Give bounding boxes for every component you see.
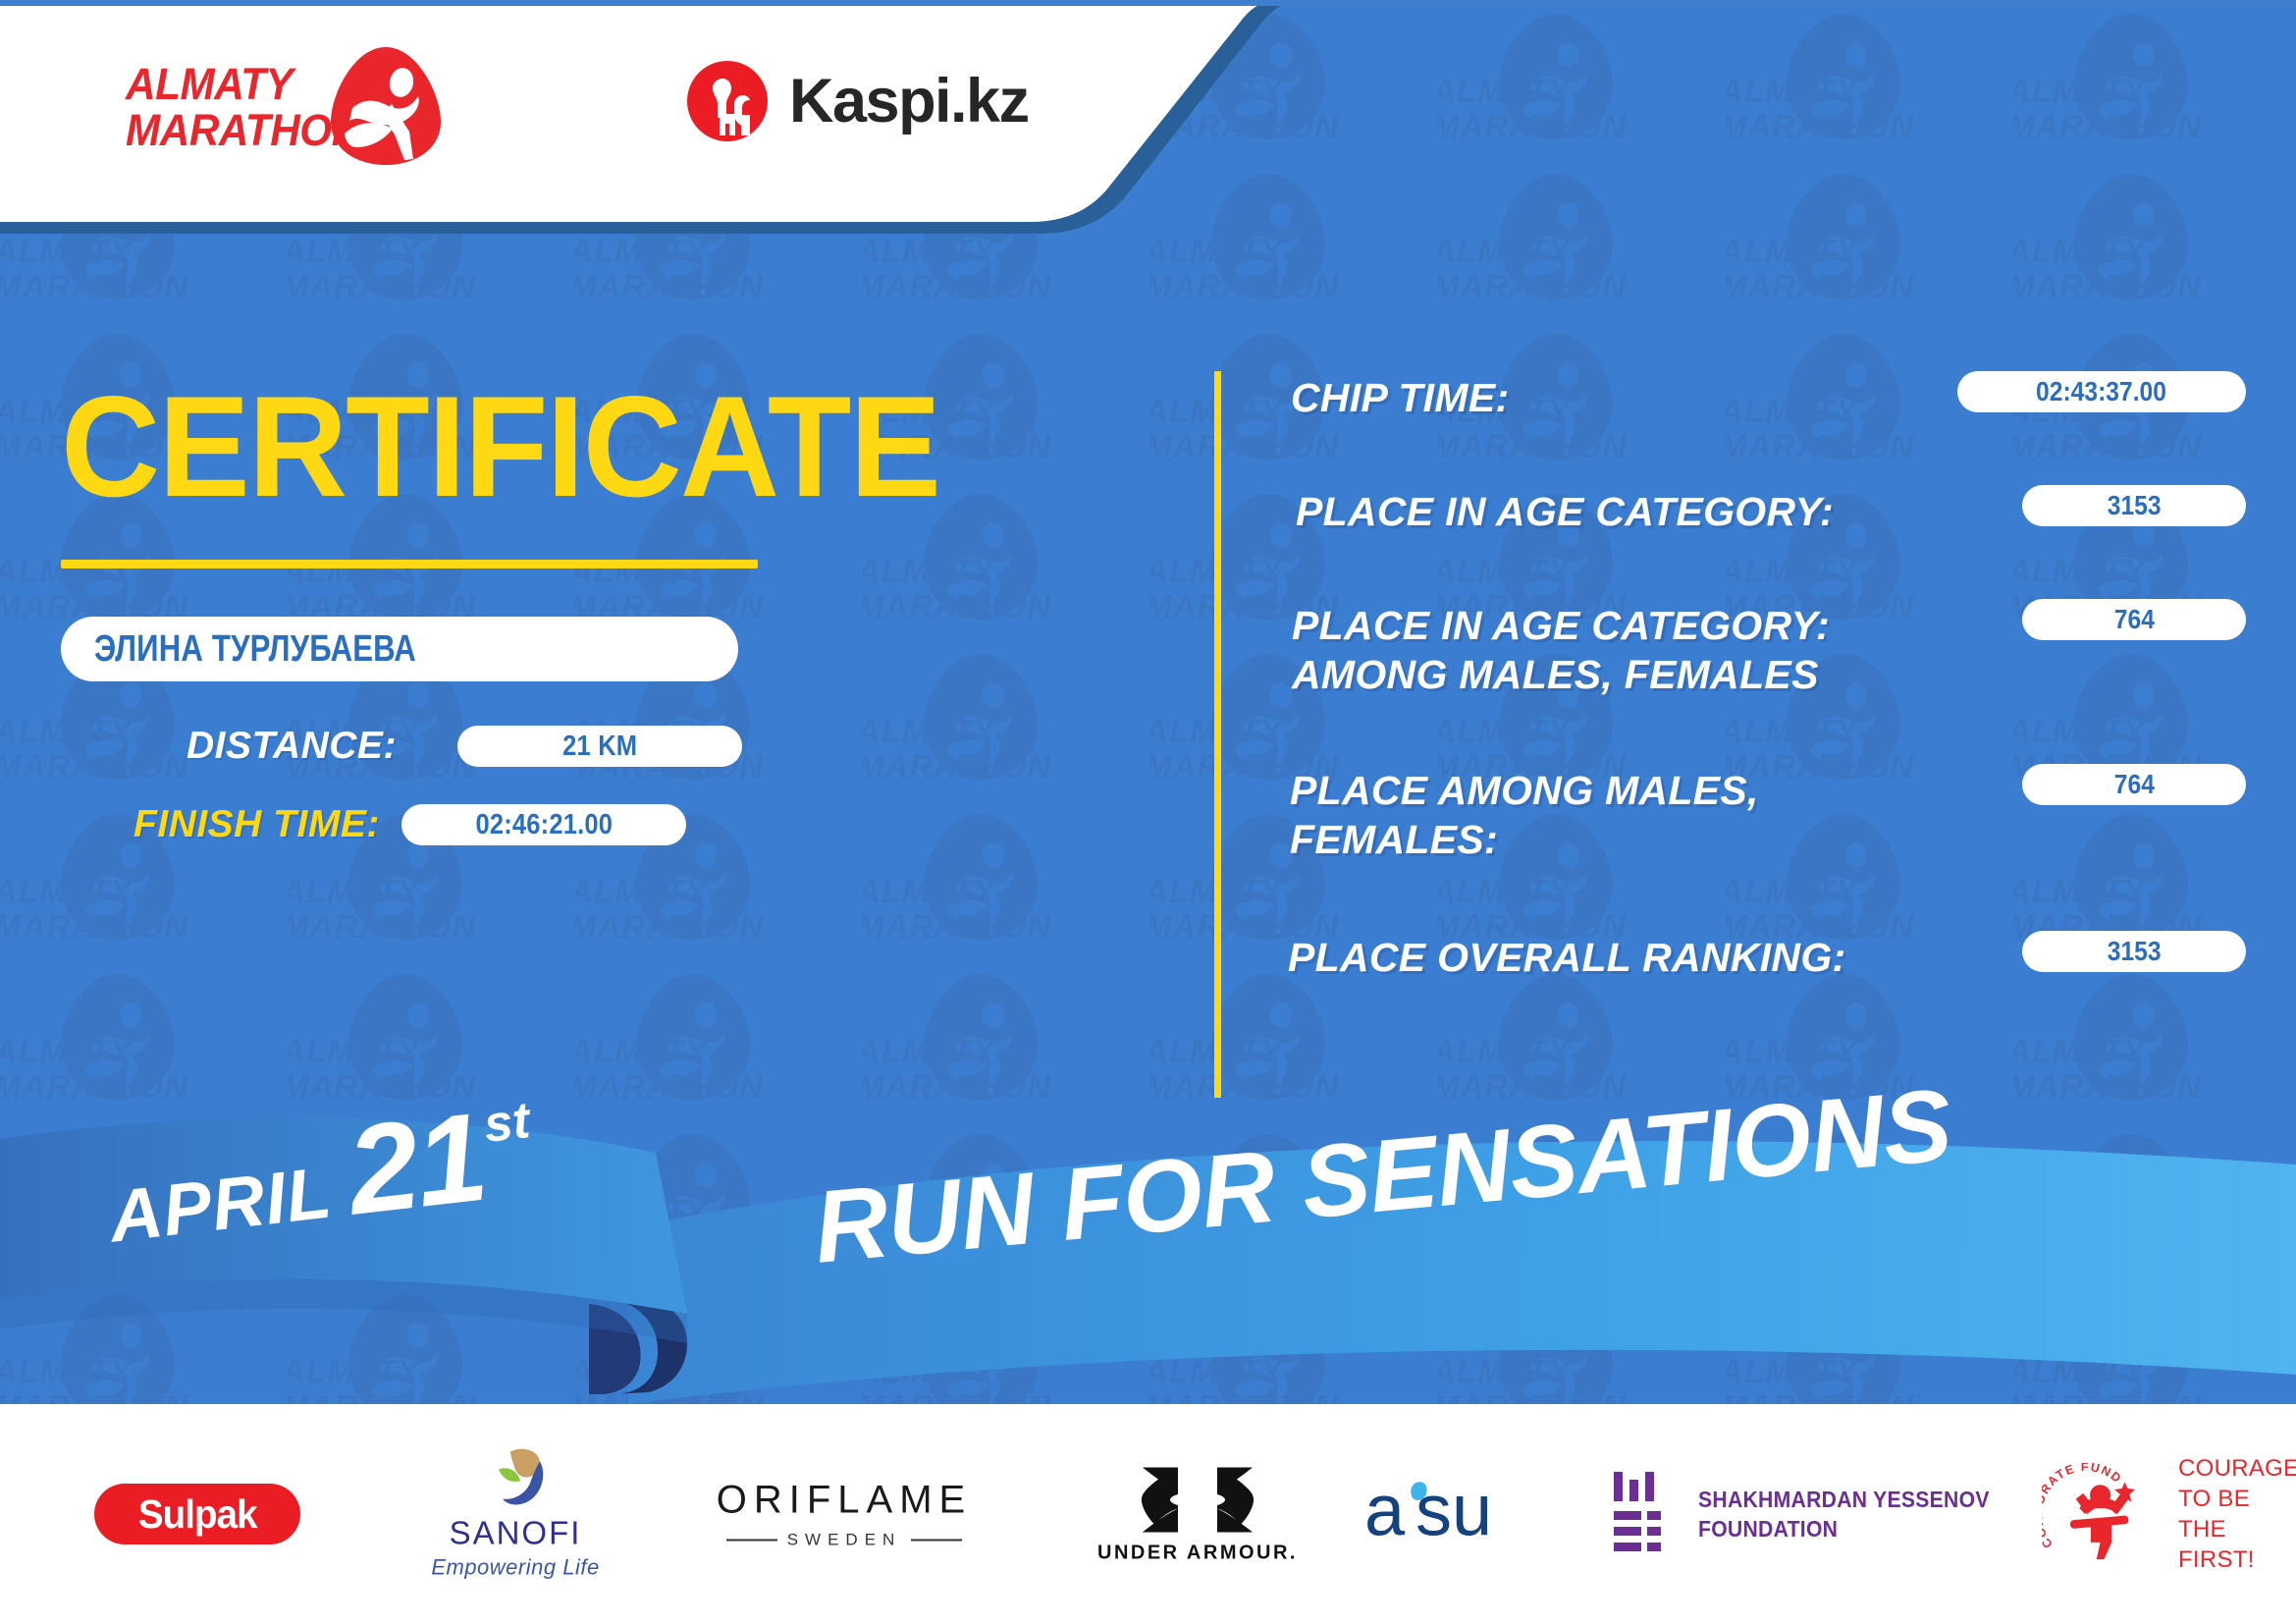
almaty-marathon-wordmark: ALMATY MARATHON	[126, 61, 361, 153]
sanofi-wordmark: SANOFI	[407, 1515, 623, 1552]
place-age-category-sex-value-field: 764	[2022, 599, 2246, 640]
event-month: APRIL	[105, 1150, 336, 1258]
place-age-category-label: PLACE IN AGE CATEGORY:	[1296, 487, 1834, 536]
yessenov-line1: SHAKHMARDAN YESSENOV	[1698, 1485, 1990, 1514]
event-day-ordinal: st	[481, 1091, 533, 1155]
sulpak-wordmark: Sulpak	[138, 1491, 257, 1538]
kaspi-wordmark: Kaspi.kz	[789, 66, 1029, 136]
yessenov-mark-icon	[1610, 1472, 1673, 1556]
oriflame-rule-left	[726, 1540, 777, 1542]
participant-name-value: ЭЛИНА ТУРЛУБАЕВА	[94, 628, 416, 671]
header-bar: ALMATY MARATHON Kaspi.kz	[0, 0, 1227, 196]
certificate-title: CERTIFICATE	[61, 375, 939, 518]
distance-row: DISTANCE: 21 KM	[187, 725, 742, 768]
place-age-category-sex-label: PLACE IN AGE CATEGORY:AMONG MALES, FEMAL…	[1292, 601, 1830, 699]
participant-name-field: ЭЛИНА ТУРЛУБАЕВА	[61, 617, 738, 681]
courage-fund-wordmark: COURAGE TO BE THE FIRST!	[2178, 1453, 2296, 1575]
certificate-canvas: ALMATY MARATHON ALMATY MARATHON	[0, 0, 2296, 1624]
oriflame-rule-right	[911, 1540, 962, 1542]
distance-label: DISTANCE:	[187, 725, 397, 768]
place-overall-value-field: 3153	[2022, 931, 2246, 972]
courage-line1: COURAGE	[2178, 1453, 2296, 1484]
title-underline	[61, 560, 758, 568]
sponsor-oriflame: ORIFLAME SWEDEN	[697, 1479, 991, 1550]
courage-line3: THE FIRST!	[2178, 1514, 2296, 1575]
chip-time-value: 02:43:37.00	[2037, 376, 2167, 407]
sponsor-bar: Sulpak SANOFI Empowering Life ORIFLAME S…	[0, 1404, 2296, 1624]
place-age-category-value: 3153	[2108, 490, 2162, 521]
courage-fund-mark-icon: CORPORATE FUND	[2042, 1463, 2164, 1565]
svg-text:su: su	[1415, 1473, 1492, 1551]
column-divider	[1214, 371, 1221, 1098]
top-rule	[0, 0, 2296, 6]
finish-time-row: FINISH TIME: 02:46:21.00	[133, 803, 686, 846]
chip-time-label: CHIP TIME:	[1291, 373, 1509, 422]
sponsor-asu: a su	[1360, 1473, 1556, 1556]
place-age-category-value-field: 3153	[2022, 485, 2246, 526]
oriflame-sub: SWEDEN	[697, 1531, 991, 1550]
place-among-sex-label: PLACE AMONG MALES,FEMALES:	[1290, 766, 1759, 864]
almaty-marathon-line2: MARATHON	[126, 107, 361, 153]
place-among-sex-value: 764	[2113, 769, 2154, 800]
place-overall-value: 3153	[2108, 936, 2162, 967]
under-armour-mark-icon	[1135, 1464, 1260, 1537]
event-day: 21	[341, 1085, 492, 1244]
place-overall-label: PLACE OVERALL RANKING:	[1288, 933, 1845, 982]
sponsor-sulpak: Sulpak	[94, 1484, 300, 1544]
sulpak-logo: Sulpak	[94, 1484, 300, 1544]
sponsor-under-armour: UNDER ARMOUR.	[1085, 1464, 1310, 1565]
sponsor-courage-fund: CORPORATE FUND COURAGE TO BE THE FIRST!	[2042, 1453, 2296, 1575]
kaspi-logo: Kaspi.kz	[687, 61, 1029, 141]
place-age-category-sex-value: 764	[2113, 604, 2154, 635]
kaspi-mark-icon	[687, 61, 768, 141]
oriflame-country: SWEDEN	[787, 1531, 902, 1550]
courage-line2: TO BE	[2178, 1484, 2296, 1514]
distance-value-field: 21 KM	[457, 726, 742, 767]
yessenov-line2: FOUNDATION	[1698, 1514, 1990, 1543]
sponsor-yessenov: SHAKHMARDAN YESSENOV FOUNDATION	[1610, 1472, 2015, 1556]
event-ribbon: APRIL 21 st RUN FOR SENSATIONS	[0, 1080, 2296, 1404]
asu-logo-icon: a su	[1364, 1473, 1551, 1551]
sponsor-sanofi: SANOFI Empowering Life	[407, 1448, 623, 1581]
place-among-sex-value-field: 764	[2022, 764, 2246, 805]
almaty-marathon-line1: ALMATY	[126, 61, 361, 107]
sanofi-tagline: Empowering Life	[407, 1555, 623, 1581]
yessenov-wordmark: SHAKHMARDAN YESSENOV FOUNDATION	[1698, 1485, 1990, 1543]
distance-value: 21 KM	[562, 731, 637, 763]
under-armour-wordmark: UNDER ARMOUR.	[1085, 1543, 1310, 1565]
finish-time-value: 02:46:21.00	[475, 809, 613, 841]
finish-time-value-field: 02:46:21.00	[401, 804, 686, 845]
finish-time-label: FINISH TIME:	[133, 803, 380, 846]
almaty-marathon-logo: ALMATY MARATHON	[126, 41, 450, 169]
sanofi-mark-icon	[477, 1448, 554, 1511]
almaty-marathon-drop-icon	[327, 43, 445, 169]
svg-text:a: a	[1364, 1473, 1406, 1551]
oriflame-wordmark: ORIFLAME	[697, 1479, 991, 1523]
chip-time-value-field: 02:43:37.00	[1957, 371, 2246, 412]
